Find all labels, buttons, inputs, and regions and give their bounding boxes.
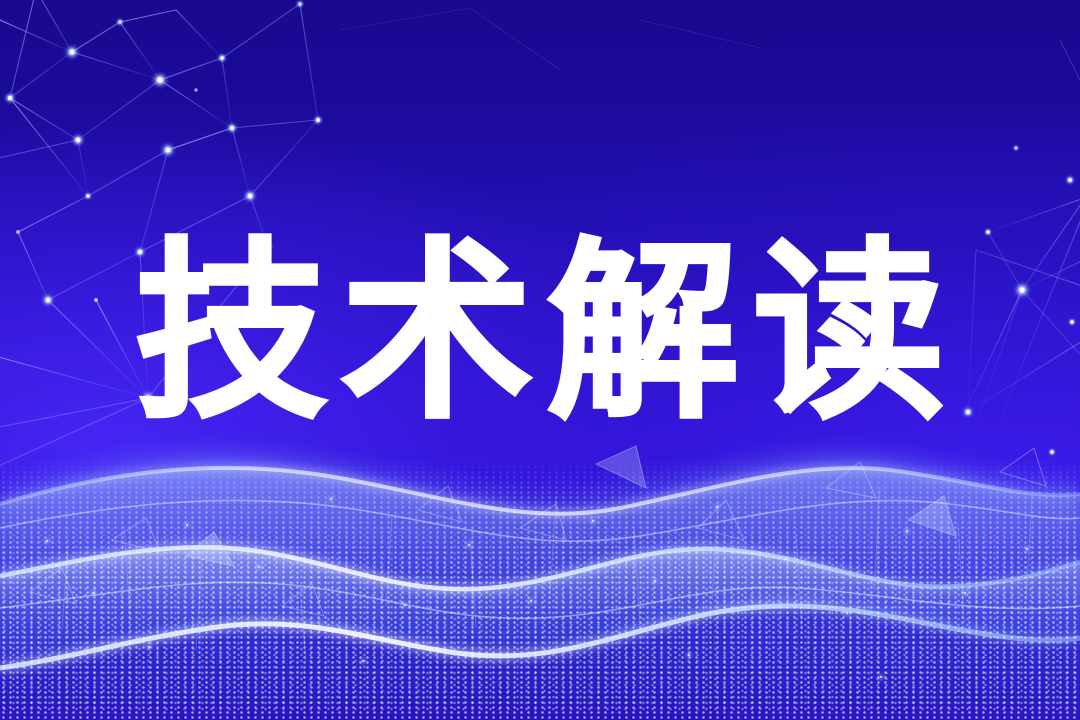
headline-container: 技术解读: [0, 238, 1080, 430]
wave-landscape-graphic: [0, 400, 1080, 720]
page-title: 技术解读: [121, 238, 959, 430]
dot-matrix-texture-secondary: [0, 514, 1080, 714]
tech-banner: 技术解读: [0, 0, 1080, 720]
dot-matrix-texture: [0, 460, 1080, 720]
